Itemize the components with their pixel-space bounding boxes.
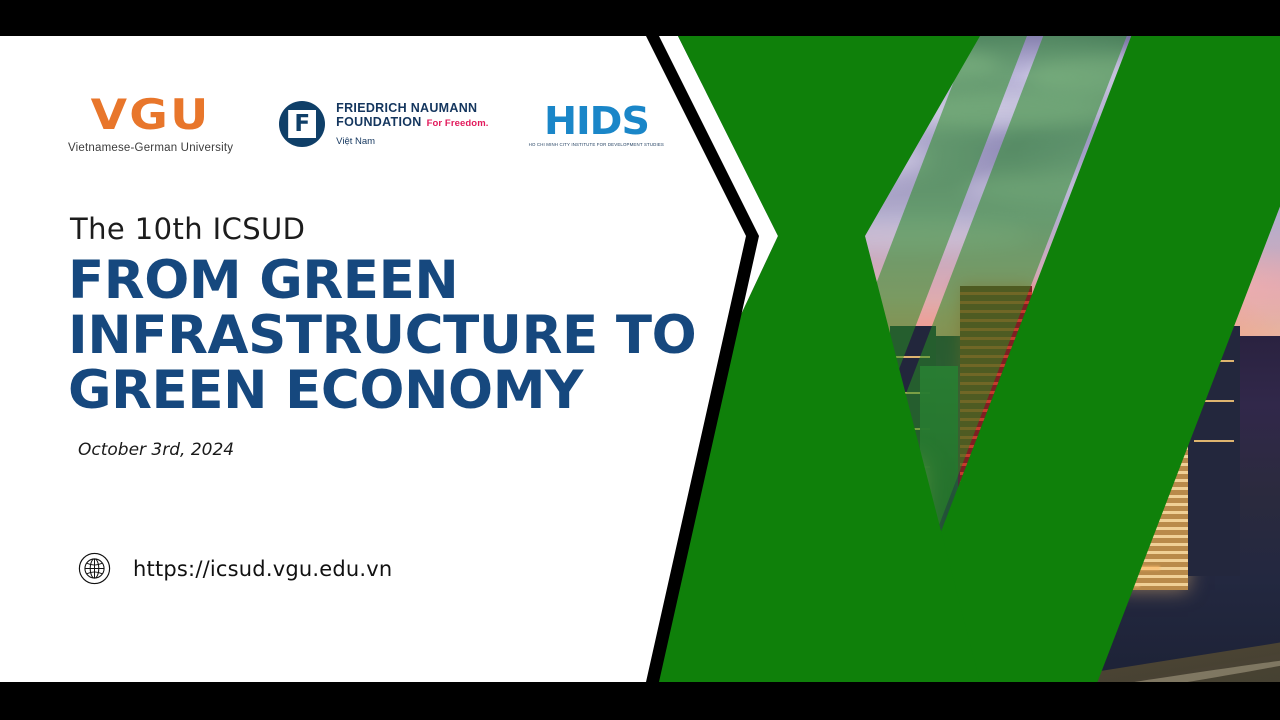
fnf-line-1: FRIEDRICH NAUMANN	[336, 101, 488, 115]
letterbox-bar-top	[0, 0, 1280, 36]
presentation-slide: VGU Vietnamese-German University F FRIED…	[0, 0, 1280, 720]
title-line-2: INFRASTRUCTURE TO	[68, 309, 708, 364]
fnf-emblem-icon: F	[279, 101, 325, 147]
title-line-1: FROM GREEN	[68, 254, 708, 309]
slide-stage: VGU Vietnamese-German University F FRIED…	[0, 36, 1280, 682]
logo-hids: HIDS HO CHI MINH CITY INSTITUTE FOR DEVE…	[530, 102, 663, 147]
website-row[interactable]: https://icsud.vgu.edu.vn	[78, 552, 392, 585]
event-eyebrow: The 10th ICSUD	[70, 212, 305, 246]
globe-icon	[78, 552, 111, 585]
title-line-3: GREEN ECONOMY	[68, 364, 708, 419]
page-title: FROM GREEN INFRASTRUCTURE TO GREEN ECONO…	[68, 254, 708, 419]
vgu-wordmark: VGU	[91, 94, 211, 136]
hids-wordmark: HIDS	[544, 102, 649, 140]
event-date: October 3rd, 2024	[78, 440, 234, 460]
fnf-wordmark: FRIEDRICH NAUMANN FOUNDATION For Freedom…	[336, 101, 488, 147]
website-url[interactable]: https://icsud.vgu.edu.vn	[133, 557, 392, 581]
letterbox-bar-bottom	[0, 682, 1280, 720]
fnf-line-2: FOUNDATION For Freedom.	[336, 115, 488, 130]
logo-vgu: VGU Vietnamese-German University	[68, 94, 233, 154]
fnf-country: Việt Nam	[336, 137, 488, 148]
fnf-letter-f: F	[294, 113, 310, 136]
logo-row: VGU Vietnamese-German University F FRIED…	[68, 94, 663, 154]
logo-friedrich-naumann-foundation: F FRIEDRICH NAUMANN FOUNDATION For Freed…	[279, 101, 488, 147]
slide-content: VGU Vietnamese-German University F FRIED…	[0, 36, 650, 682]
hids-subtitle: HO CHI MINH CITY INSTITUTE FOR DEVELOPME…	[529, 142, 664, 147]
fnf-foundation-text: FOUNDATION	[336, 115, 421, 129]
fnf-tagline: For Freedom.	[427, 119, 489, 130]
vgu-subtitle: Vietnamese-German University	[68, 142, 233, 154]
